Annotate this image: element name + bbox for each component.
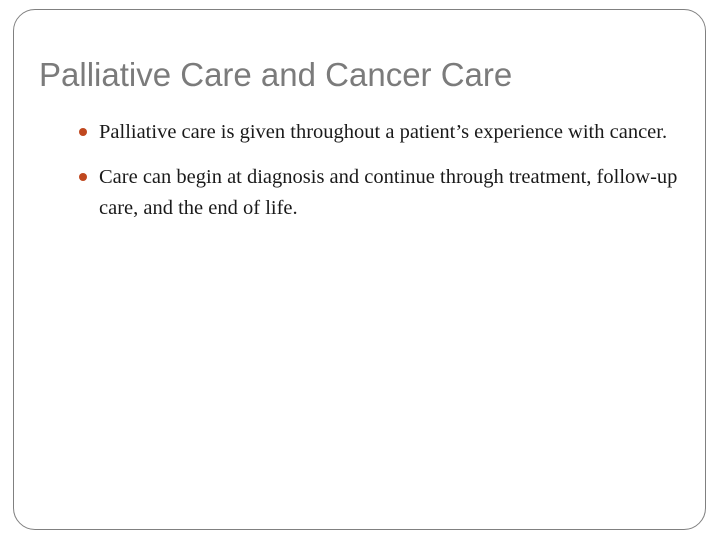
round-bullet-icon	[79, 173, 87, 181]
bullet-list: Palliative care is given throughout a pa…	[74, 117, 690, 224]
list-item: Care can begin at diagnosis and continue…	[74, 162, 690, 224]
round-bullet-icon	[79, 128, 87, 136]
slide-canvas: Palliative Care and Cancer Care Palliati…	[0, 0, 720, 540]
slide-title: Palliative Care and Cancer Care	[39, 54, 679, 96]
list-item-text: Care can begin at diagnosis and continue…	[99, 162, 690, 224]
list-item: Palliative care is given throughout a pa…	[74, 117, 690, 148]
list-item-text: Palliative care is given throughout a pa…	[99, 117, 690, 148]
